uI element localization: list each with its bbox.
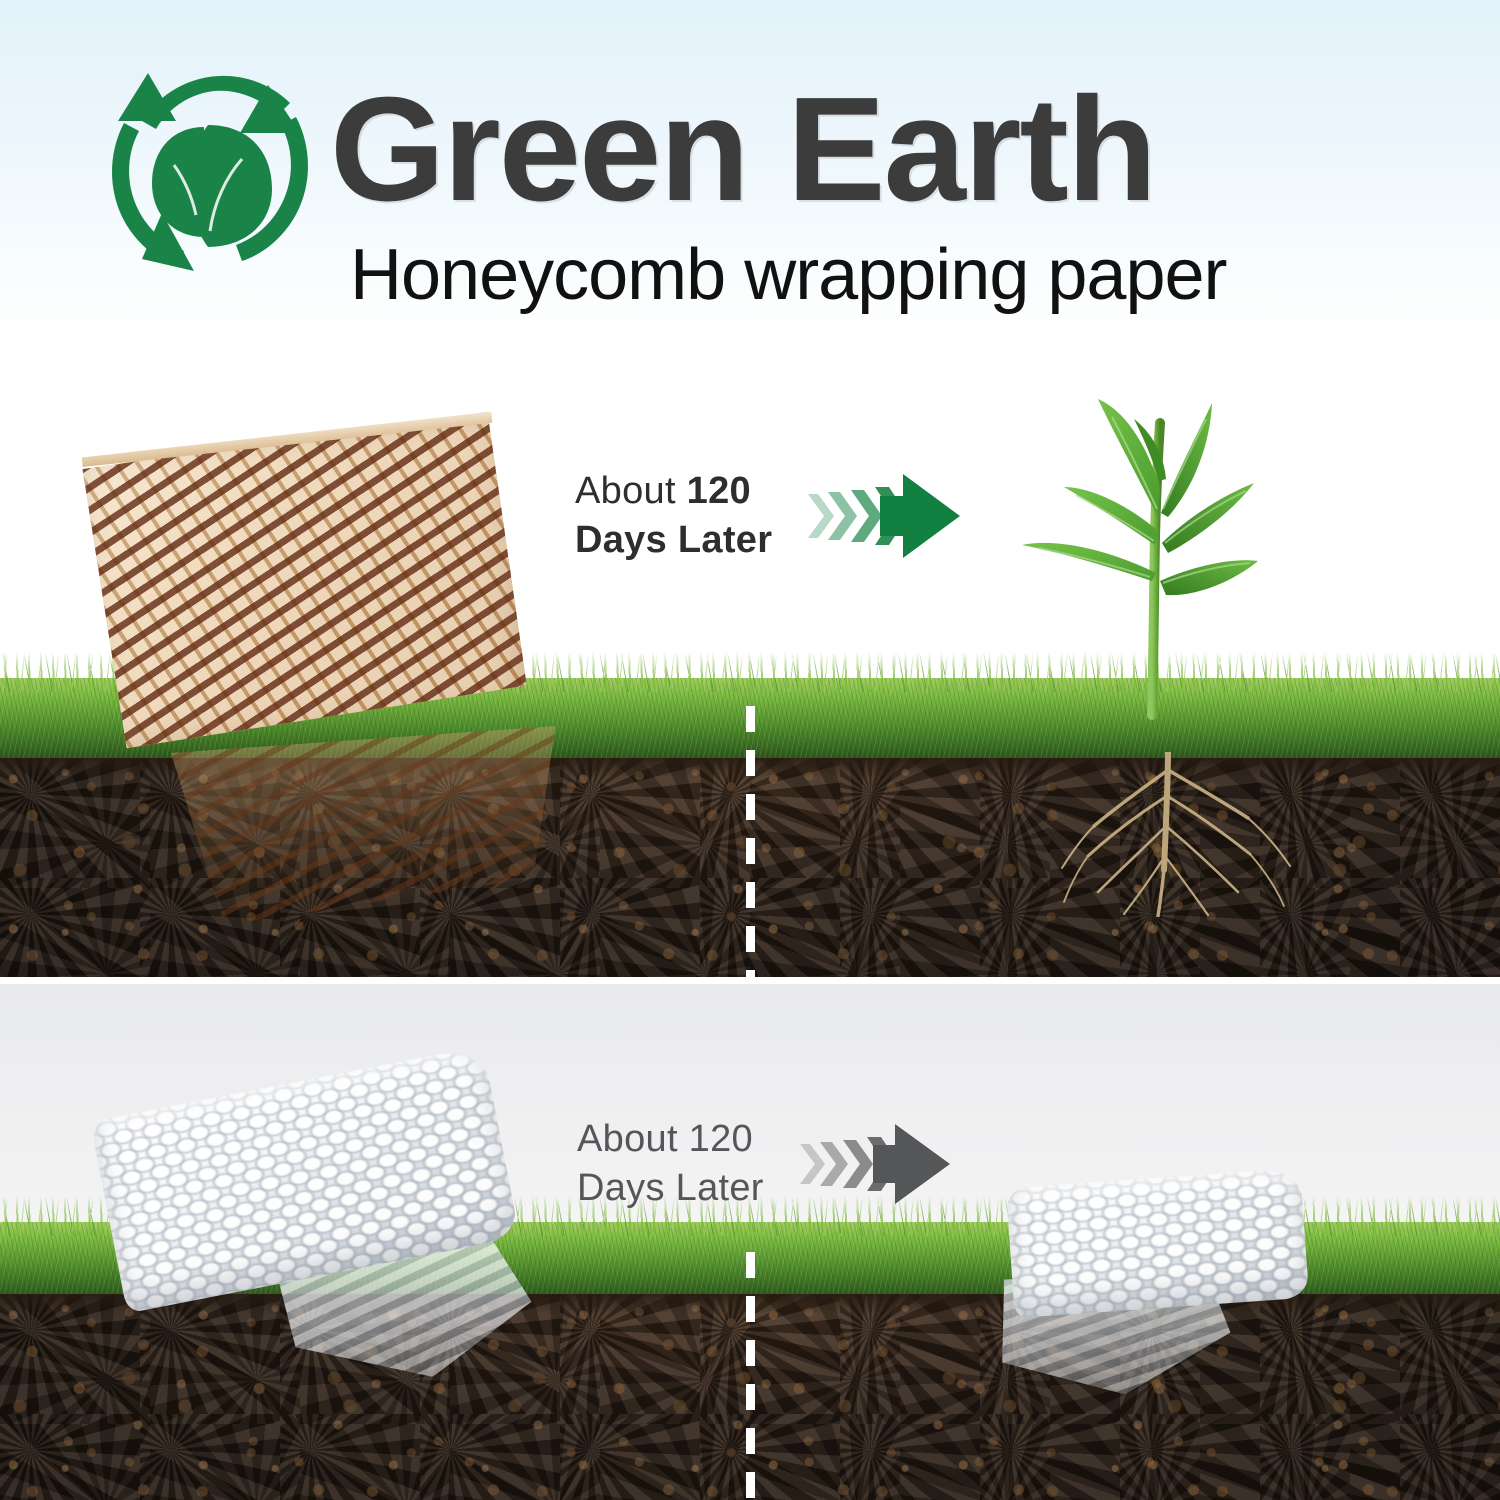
callout-days-value: 120 (687, 470, 751, 512)
callout-bubblewrap: About 120Days Later (577, 1114, 985, 1214)
honeycomb-kraft-paper (72, 411, 529, 751)
callout-text-honeycomb: About 120Days Later (575, 467, 772, 565)
callout-days-value-bottom: 120 (689, 1118, 753, 1160)
green-seedling-plant (1020, 385, 1350, 730)
panel-separator (0, 977, 1500, 984)
callout-line2-bottom: Days Later (577, 1167, 764, 1209)
brand-row: Green Earth Honeycomb wrapping paper (100, 45, 1420, 290)
bubble-wrap-body-right (1006, 1168, 1309, 1318)
page-header: Green Earth Honeycomb wrapping paper (0, 0, 1500, 345)
chevron-arrow-right-icon-gray (800, 1114, 985, 1214)
product-infographic: About 120Days Later (0, 0, 1500, 1500)
honeycomb-paper-sheet (72, 411, 529, 751)
callout-text-bubblewrap: About 120Days Later (577, 1115, 764, 1213)
recycle-leaves-icon (100, 65, 315, 280)
callout-prefix: About (575, 470, 687, 512)
chevron-arrow-right-icon (808, 466, 993, 566)
page-title: Green Earth (330, 75, 1155, 225)
vertical-dashed-divider-bottom (746, 1252, 755, 1500)
plastic-bubble-wrap-roll-right (1006, 1168, 1309, 1318)
callout-prefix-bottom: About (577, 1118, 689, 1160)
callout-honeycomb: About 120Days Later (575, 466, 993, 566)
plant-root-system (1050, 752, 1320, 917)
vertical-dashed-divider-top (746, 706, 755, 977)
callout-line2: Days Later (575, 519, 772, 561)
page-subtitle: Honeycomb wrapping paper (350, 235, 1227, 315)
